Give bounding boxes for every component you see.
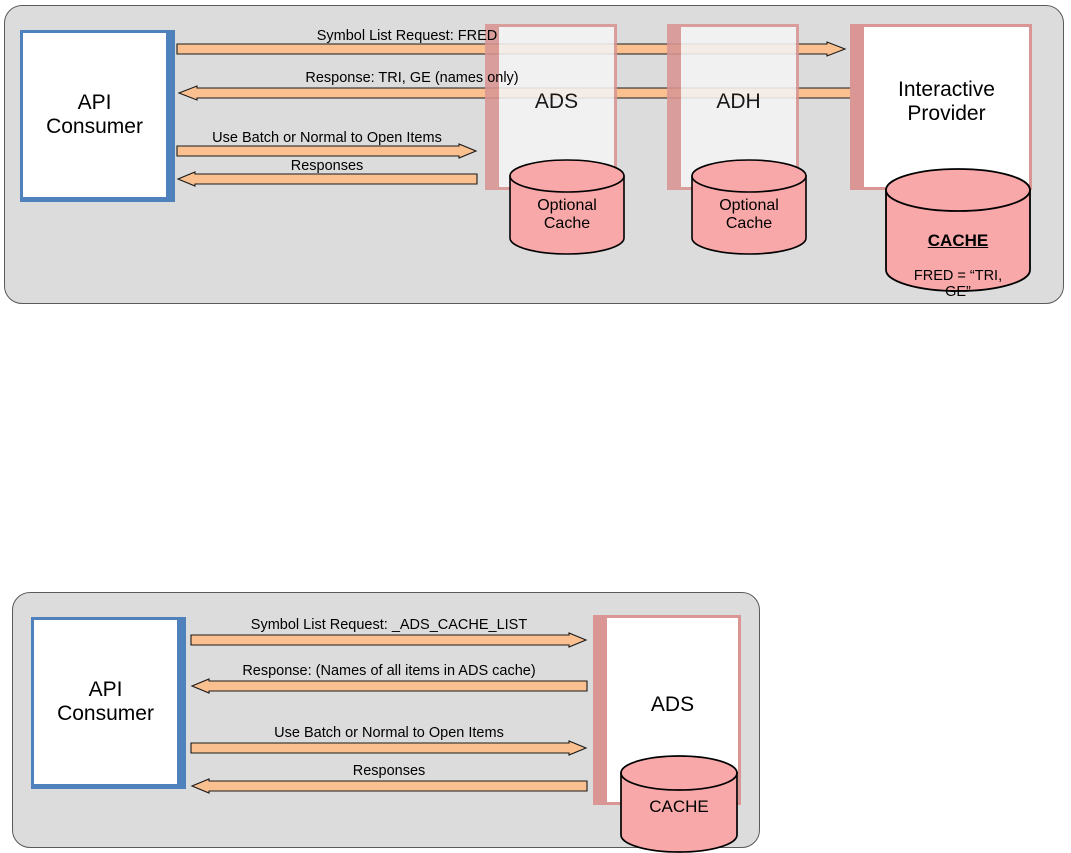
arrow-ads-cache-list-request <box>191 633 587 647</box>
node-api-consumer-bottom: API Consumer <box>31 617 186 789</box>
cache-ads-optional: Optional Cache <box>509 159 625 255</box>
node-interactive-provider-label: Interactive Provider <box>898 78 995 126</box>
node-api-consumer-label: API Consumer <box>46 91 143 139</box>
panel-ads-cache-list-flow: ADS API Consumer Symbo <box>12 592 760 848</box>
arrow-open-items <box>177 144 477 158</box>
arrow-label-responses: Responses <box>177 158 477 174</box>
node-ads-bottom-label: ADS <box>651 693 694 717</box>
arrow-label-responses-bottom: Responses <box>191 763 587 779</box>
arrow-open-items-bottom <box>191 741 587 755</box>
node-adh-label: ADH <box>716 90 760 114</box>
panel-interactive-provider-flow: ADS ADH Interactive Provider API Consume… <box>4 5 1064 304</box>
arrow-label-open-items-bottom: Use Batch or Normal to Open Items <box>191 725 587 741</box>
arrow-label-symbol-list-response: Response: TRI, GE (names only) <box>177 70 647 86</box>
node-interactive-provider: Interactive Provider <box>850 24 1032 190</box>
arrow-label-open-items: Use Batch or Normal to Open Items <box>177 130 477 146</box>
arrow-open-items-responses <box>175 172 477 186</box>
arrow-ads-cache-list-response <box>189 679 587 693</box>
arrow-label-ads-cache-list-response: Response: (Names of all items in ADS cac… <box>189 663 589 679</box>
arrow-label-ads-cache-list-request: Symbol List Request: _ADS_CACHE_LIST <box>191 617 587 633</box>
arrow-responses-bottom <box>189 779 587 793</box>
cache-interactive-provider: CACHE FRED = “TRI, GE” <box>885 168 1031 294</box>
node-api-consumer: API Consumer <box>20 30 175 202</box>
arrow-label-symbol-list-request: Symbol List Request: FRED <box>177 28 637 44</box>
cache-ads-bottom: CACHE <box>620 755 738 853</box>
diagram-canvas: ADS ADH Interactive Provider API Consume… <box>0 0 1071 853</box>
node-ads-label: ADS <box>535 90 578 114</box>
node-api-consumer-bottom-label: API Consumer <box>57 678 154 726</box>
cache-adh-optional: Optional Cache <box>691 159 807 255</box>
